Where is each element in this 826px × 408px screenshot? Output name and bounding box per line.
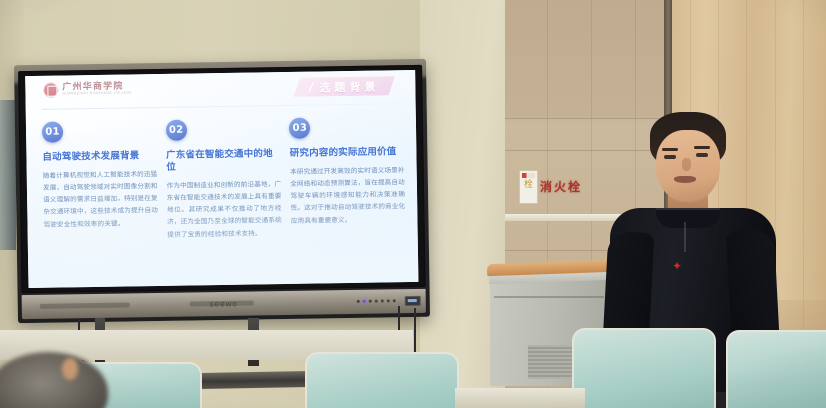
panel-status-leds[interactable]: [357, 299, 396, 303]
seewo-interactive-panel[interactable]: 广州华商学院 GUANGZHOU HUASHANG COLLEGE / 选题背景…: [14, 59, 430, 323]
audience-member-ear: [62, 358, 78, 380]
slide-columns: 01 自动驾驶技术发展背景 随着计算机视觉和人工智能技术的迅猛发展，自动驾驶领域…: [42, 116, 406, 250]
presenter-brow-right: [694, 146, 710, 149]
section-title-label: 选题背景: [319, 78, 379, 95]
hydrant-card-glyph: 栓: [520, 180, 537, 189]
presenter-shirt-logo-icon: ✦: [672, 260, 685, 273]
column-body: 作为中国制造业和创新的前沿基地，广东省在智能交通技术的发展上具有重要地位。其研究…: [166, 178, 282, 241]
column-number-badge: 02: [166, 120, 187, 141]
panel-power-led: [363, 300, 366, 303]
panel-led: [387, 299, 390, 302]
institution-logo: 广州华商学院 GUANGZHOU HUASHANG COLLEGE: [43, 81, 132, 97]
chair-back-front-mid: [305, 352, 459, 408]
desk-surface-front-right: [455, 388, 585, 408]
column-title: 广东省在智能交通中的地位: [166, 148, 281, 174]
column-number-badge: 03: [289, 118, 310, 139]
section-title-chip: / 选题背景: [293, 75, 395, 97]
column-body: 本研究通过开发高效的实时语义场景补全网络和动态预测算法，旨在提高自动驾驶车辆的环…: [290, 164, 406, 227]
panel-usb-port[interactable]: [405, 296, 421, 306]
presenter-brow-left: [662, 148, 678, 151]
college-emblem-icon: [43, 83, 58, 98]
presenter-eye-left: [664, 155, 676, 159]
chair-back-front-right-a: [572, 328, 716, 408]
slide-column: 03 研究内容的实际应用价值 本研究通过开发高效的实时语义场景补全网络和动态预测…: [289, 116, 406, 246]
desk-rail-front: [200, 371, 310, 389]
panel-led: [357, 300, 360, 303]
presentation-slide: 广州华商学院 GUANGZHOU HUASHANG COLLEGE / 选题背景…: [25, 70, 418, 288]
panel-led: [381, 299, 384, 302]
institution-name-en: GUANGZHOU HUASHANG COLLEGE: [62, 92, 131, 97]
slide-column: 01 自动驾驶技术发展背景 随着计算机视觉和人工智能技术的迅猛发展，自动驾驶领域…: [42, 120, 159, 250]
panel-brand-label: seewo: [210, 299, 238, 308]
presenter-collar: [656, 208, 720, 228]
presenter-nose: [682, 158, 691, 171]
slide-column: 02 广东省在智能交通中的地位 作为中国制造业和创新的前沿基地，广东省在智能交通…: [166, 118, 283, 248]
panel-bezel: 广州华商学院 GUANGZHOU HUASHANG COLLEGE / 选题背景…: [18, 65, 425, 293]
left-window-frame: [0, 100, 16, 250]
panel-led: [369, 300, 372, 303]
hydrant-card-stripe: [522, 173, 535, 178]
fire-hydrant-label: 消火栓: [540, 178, 582, 195]
panel-screen[interactable]: 广州华商学院 GUANGZHOU HUASHANG COLLEGE / 选题背景…: [25, 70, 418, 288]
chip-slash-icon: /: [309, 81, 313, 94]
panel-led: [393, 299, 396, 302]
presenter-mouth: [674, 176, 696, 183]
column-title: 自动驾驶技术发展背景: [42, 150, 157, 164]
column-title: 研究内容的实际应用价值: [290, 146, 405, 160]
fire-hydrant-card: 栓: [519, 170, 538, 204]
column-number-badge: 01: [42, 121, 63, 142]
presenter-eye-right: [696, 153, 708, 157]
lectern-drawer-seam: [494, 296, 604, 298]
panel-speaker-grille-left: [40, 302, 130, 308]
presenter-shirt-placket: [684, 222, 686, 252]
panel-led: [375, 300, 378, 303]
chair-back-front-right-b: [726, 330, 826, 408]
column-body: 随着计算机视觉和人工智能技术的迅猛发展，自动驾驶领域对实时图像分割和语义理解的需…: [43, 168, 159, 231]
classroom-photo-scene: 栓 消火栓 广州华商学院 GUANGZHOU HU: [0, 0, 826, 408]
